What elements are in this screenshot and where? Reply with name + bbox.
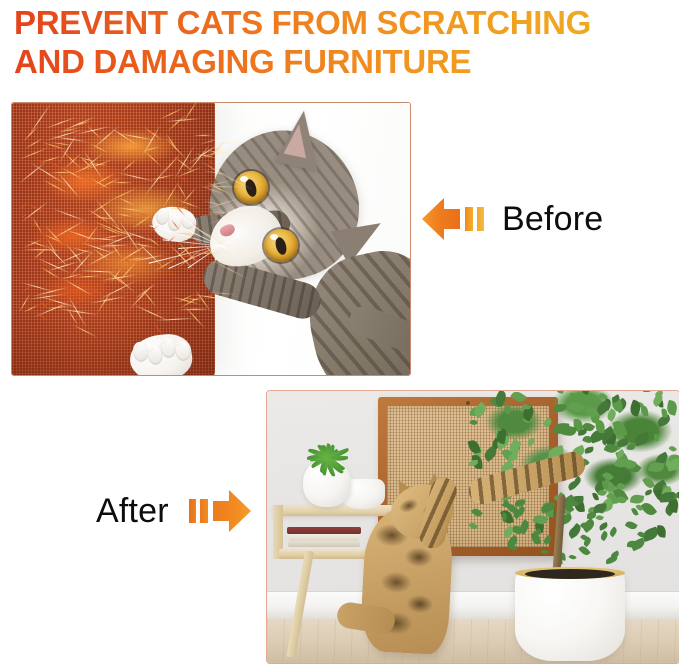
headline-line-2: AND DAMAGING FURNITURE: [14, 41, 674, 80]
ficus-planter: [515, 569, 625, 661]
stacked-books: [287, 527, 361, 547]
arrow-left-icon: [420, 192, 486, 246]
before-label: Before: [502, 202, 603, 236]
before-photo: [11, 102, 411, 376]
headline: PREVENT CATS FROM SCRATCHING AND DAMAGIN…: [14, 0, 674, 80]
planter-soil: [525, 569, 615, 579]
after-label-group: After: [96, 484, 253, 538]
after-photo-scene: [267, 391, 679, 663]
frame-screw: [466, 401, 470, 405]
headline-line-1: PREVENT CATS FROM SCRATCHING: [14, 0, 674, 41]
after-label: After: [96, 494, 169, 528]
book-middle: [289, 534, 359, 541]
arrow-right-icon: [187, 484, 253, 538]
eye-glint: [270, 234, 278, 240]
before-photo-scene: [12, 103, 410, 375]
after-photo: [266, 390, 679, 664]
before-label-group: Before: [420, 192, 603, 246]
side-table-top: [273, 505, 401, 516]
cat-eye-right: [264, 229, 298, 262]
eye-glint: [240, 176, 248, 182]
book-bottom: [288, 540, 360, 547]
book-top-red: [287, 527, 361, 534]
